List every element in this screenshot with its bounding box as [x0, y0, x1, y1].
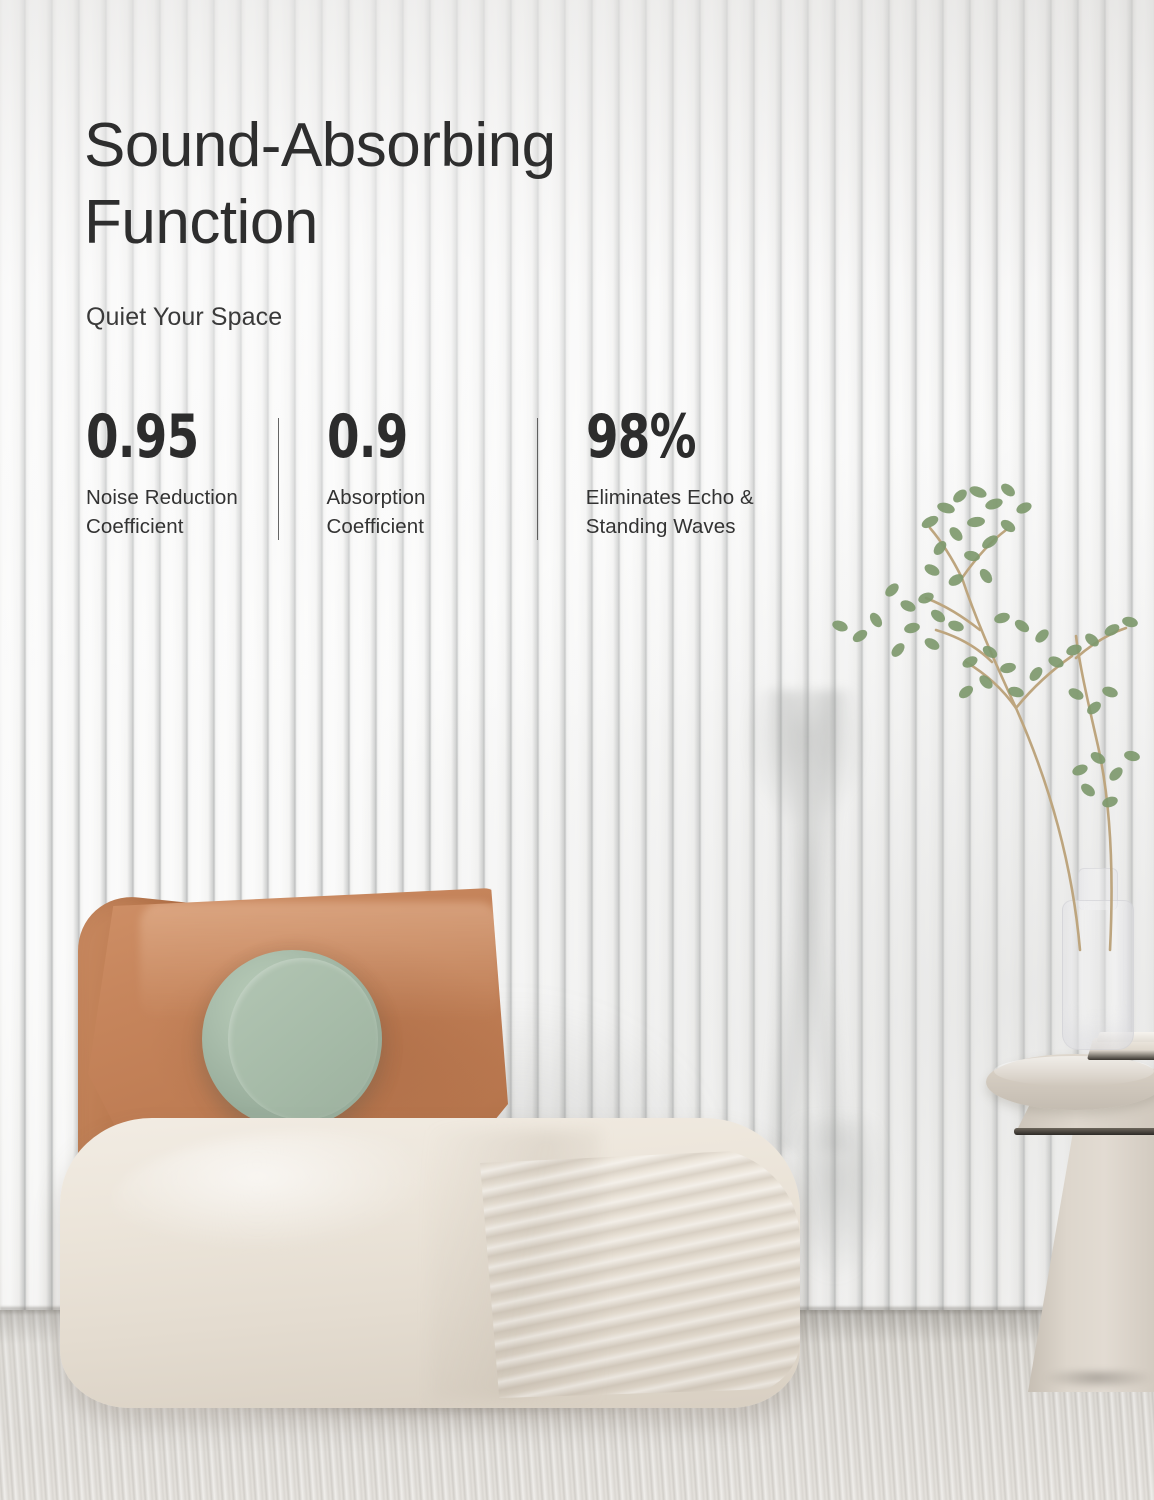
page-title: Sound-Absorbing Function	[84, 108, 784, 262]
stat-label: Noise Reduction Coefficient	[86, 483, 278, 541]
stat-divider-1	[278, 418, 279, 540]
stat-noise-reduction-coefficient: 0.95 Noise Reduction Coefficient	[86, 408, 278, 541]
stat-absorption-coefficient: 0.9 Absorption Coefficient	[327, 408, 537, 541]
product-feature-poster: Sound-Absorbing Function Quiet Your Spac…	[0, 0, 1154, 1500]
stat-label: Absorption Coefficient	[327, 483, 537, 541]
stat-label: Eliminates Echo & Standing Waves	[586, 483, 866, 541]
stat-divider-2	[537, 418, 538, 540]
stat-value: 0.9	[327, 408, 491, 467]
text-overlay: Sound-Absorbing Function Quiet Your Spac…	[0, 0, 1154, 1500]
stat-value: 0.95	[86, 408, 235, 467]
stat-eliminates-echo: 98% Eliminates Echo & Standing Waves	[586, 408, 866, 541]
page-subtitle: Quiet Your Space	[86, 303, 282, 332]
stats-row: 0.95 Noise Reduction Coefficient 0.9 Abs…	[86, 408, 866, 558]
stat-value: 98%	[586, 408, 805, 467]
